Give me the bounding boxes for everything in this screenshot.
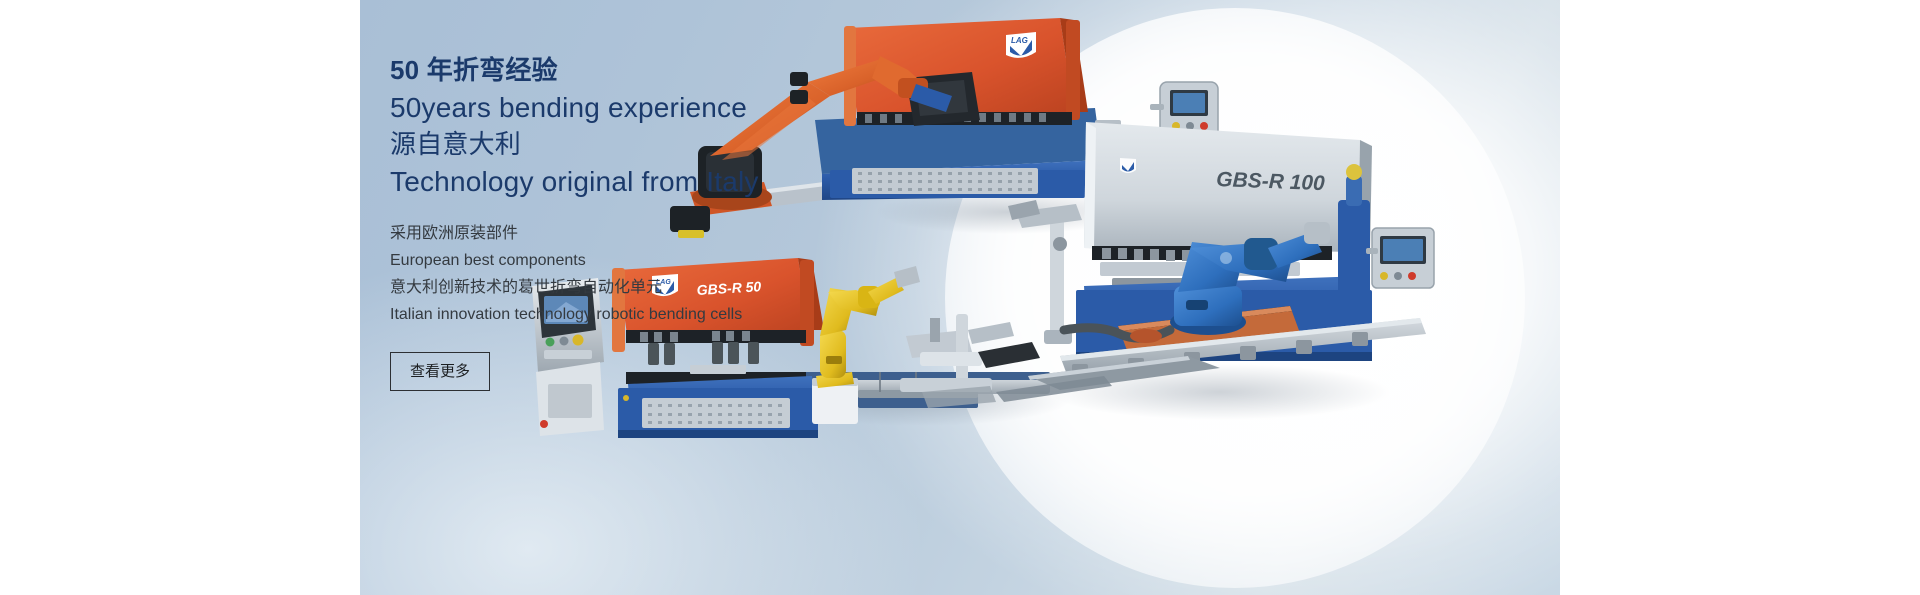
headline-line-cn-2: 源自意大利 xyxy=(390,126,910,163)
banner-copy-block: 50 年折弯经验 50years bending experience 源自意大… xyxy=(390,52,910,391)
subcopy-line-cn-2: 意大利创新技术的葛世折弯自动化单元 xyxy=(390,274,910,301)
banner-canvas: LAG xyxy=(360,0,1560,595)
subcopy-line-en-2: Italian innovation technology robotic be… xyxy=(390,301,910,328)
view-more-button[interactable]: 查看更多 xyxy=(390,352,490,391)
subcopy-group: 采用欧洲原装部件 European best components 意大利创新技… xyxy=(390,220,910,328)
machine-model-label-gbsr100: GBS-R 100 xyxy=(1216,168,1326,195)
headline-line-en-2: Technology original from Italy xyxy=(390,163,910,200)
headline-group: 50 年折弯经验 50years bending experience 源自意大… xyxy=(390,52,910,200)
banner-slide: LAG xyxy=(0,0,1920,595)
headline-line-en-1: 50years bending experience xyxy=(390,89,910,126)
headline-line-cn-1: 50 年折弯经验 xyxy=(390,52,910,89)
subcopy-line-cn-1: 采用欧洲原装部件 xyxy=(390,220,910,247)
halo-circle-decoration xyxy=(945,8,1525,588)
subcopy-line-en-1: European best components xyxy=(390,247,910,274)
svg-text:LAG: LAG xyxy=(1011,36,1028,45)
